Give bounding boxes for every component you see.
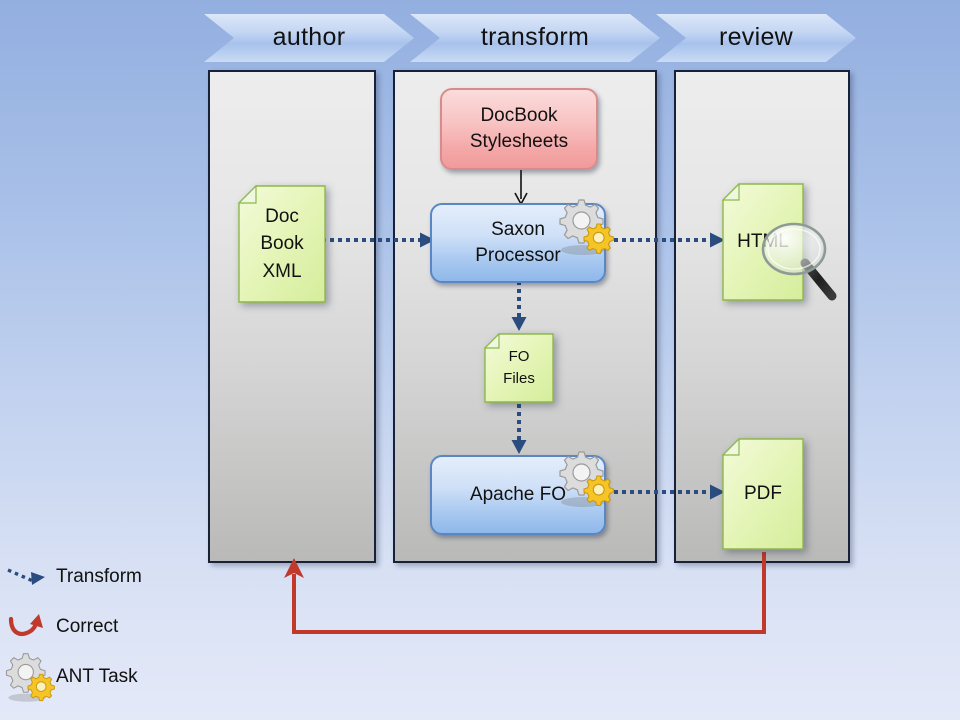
ant-task-gears-icon-saxon — [553, 196, 615, 258]
node-docbook-stylesheets[interactable]: DocBook Stylesheets — [440, 88, 598, 170]
stylesheets-line1: DocBook — [480, 103, 557, 129]
curved-red-arrow-icon — [0, 604, 56, 650]
legend-label-ant-task: ANT Task — [56, 666, 138, 688]
legend-item-correct: Correct — [0, 602, 200, 652]
document-shape-icon — [484, 333, 554, 403]
stylesheets-line2: Stylesheets — [470, 129, 568, 155]
document-shape-icon — [722, 438, 804, 550]
legend-item-transform: Transform — [0, 552, 200, 602]
apache-fo-line1: Apache FO — [470, 482, 566, 508]
dotted-arrow-icon — [0, 554, 56, 600]
phase-chevron-transform[interactable]: transform — [410, 14, 660, 62]
legend-label-transform: Transform — [56, 566, 142, 588]
edge-docbook-to-saxon — [322, 230, 438, 250]
document-shape-icon — [238, 185, 326, 303]
edge-saxon-to-fo — [509, 281, 529, 333]
node-fo-files[interactable]: FO Files — [484, 333, 554, 403]
legend: Transform Correct — [0, 552, 200, 702]
gear-small — [28, 674, 54, 700]
phase-label-transform: transform — [481, 23, 589, 52]
gear-small — [584, 224, 613, 253]
phase-label-review: review — [719, 23, 793, 52]
edge-apache-to-pdf — [606, 482, 730, 502]
node-docbook-xml[interactable]: Doc Book XML — [238, 185, 326, 303]
legend-item-ant-task: ANT Task — [0, 652, 200, 702]
edge-review-to-author — [280, 552, 780, 644]
legend-label-correct: Correct — [56, 616, 118, 638]
edge-fo-to-apache — [509, 404, 529, 456]
saxon-line1: Saxon — [491, 217, 545, 243]
edge-saxon-to-html — [606, 230, 730, 250]
phase-chevron-review[interactable]: review — [656, 14, 856, 62]
phase-label-author: author — [273, 23, 346, 52]
ant-task-gears-icon-apache — [553, 448, 615, 510]
gears-icon — [0, 654, 56, 700]
magnifier-icon — [760, 220, 846, 304]
phase-chevron-author[interactable]: author — [204, 14, 414, 62]
node-pdf-output[interactable]: PDF — [722, 438, 804, 550]
diagram-canvas: author transform review — [0, 0, 960, 720]
phase-column-author — [208, 70, 376, 563]
gear-small — [584, 476, 613, 505]
saxon-line2: Processor — [475, 243, 561, 269]
edge-styles-to-saxon — [512, 168, 530, 208]
